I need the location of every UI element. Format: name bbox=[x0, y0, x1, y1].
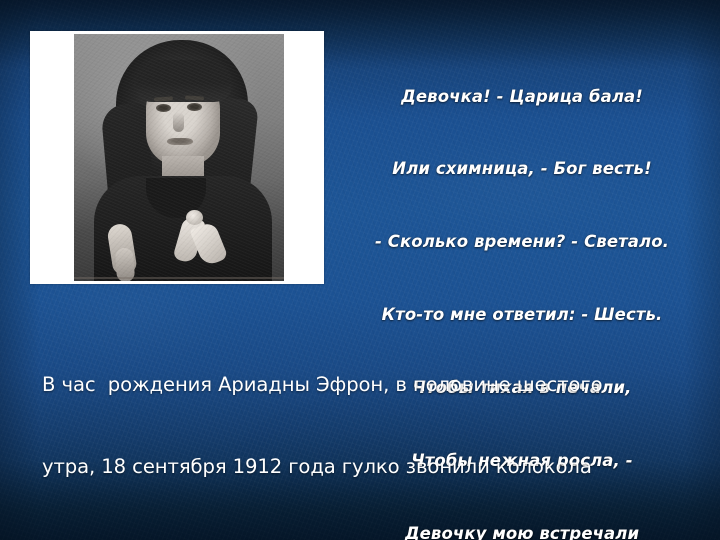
poem-line: - Сколько времени? - Светало. bbox=[336, 230, 708, 254]
poem-line: Девочка! - Царица бала! bbox=[336, 85, 708, 109]
slide-canvas: Девочка! - Царица бала! Или схимница, - … bbox=[0, 0, 720, 540]
portrait-photo-image bbox=[74, 34, 284, 281]
portrait-photo-frame bbox=[30, 31, 324, 284]
photo-bottom-edge bbox=[74, 277, 284, 279]
body-line: замосковореченской соборной церкви к зау… bbox=[42, 535, 666, 540]
poem-line: Или схимница, - Бог весть! bbox=[336, 157, 708, 181]
body-line: В час рождения Ариадны Эфрон, в половине… bbox=[42, 371, 666, 398]
body-line: утра, 18 сентября 1912 года гулко звонил… bbox=[42, 453, 666, 480]
body-paragraph: В час рождения Ариадны Эфрон, в половине… bbox=[42, 316, 666, 540]
photo-film-grain bbox=[74, 34, 284, 281]
